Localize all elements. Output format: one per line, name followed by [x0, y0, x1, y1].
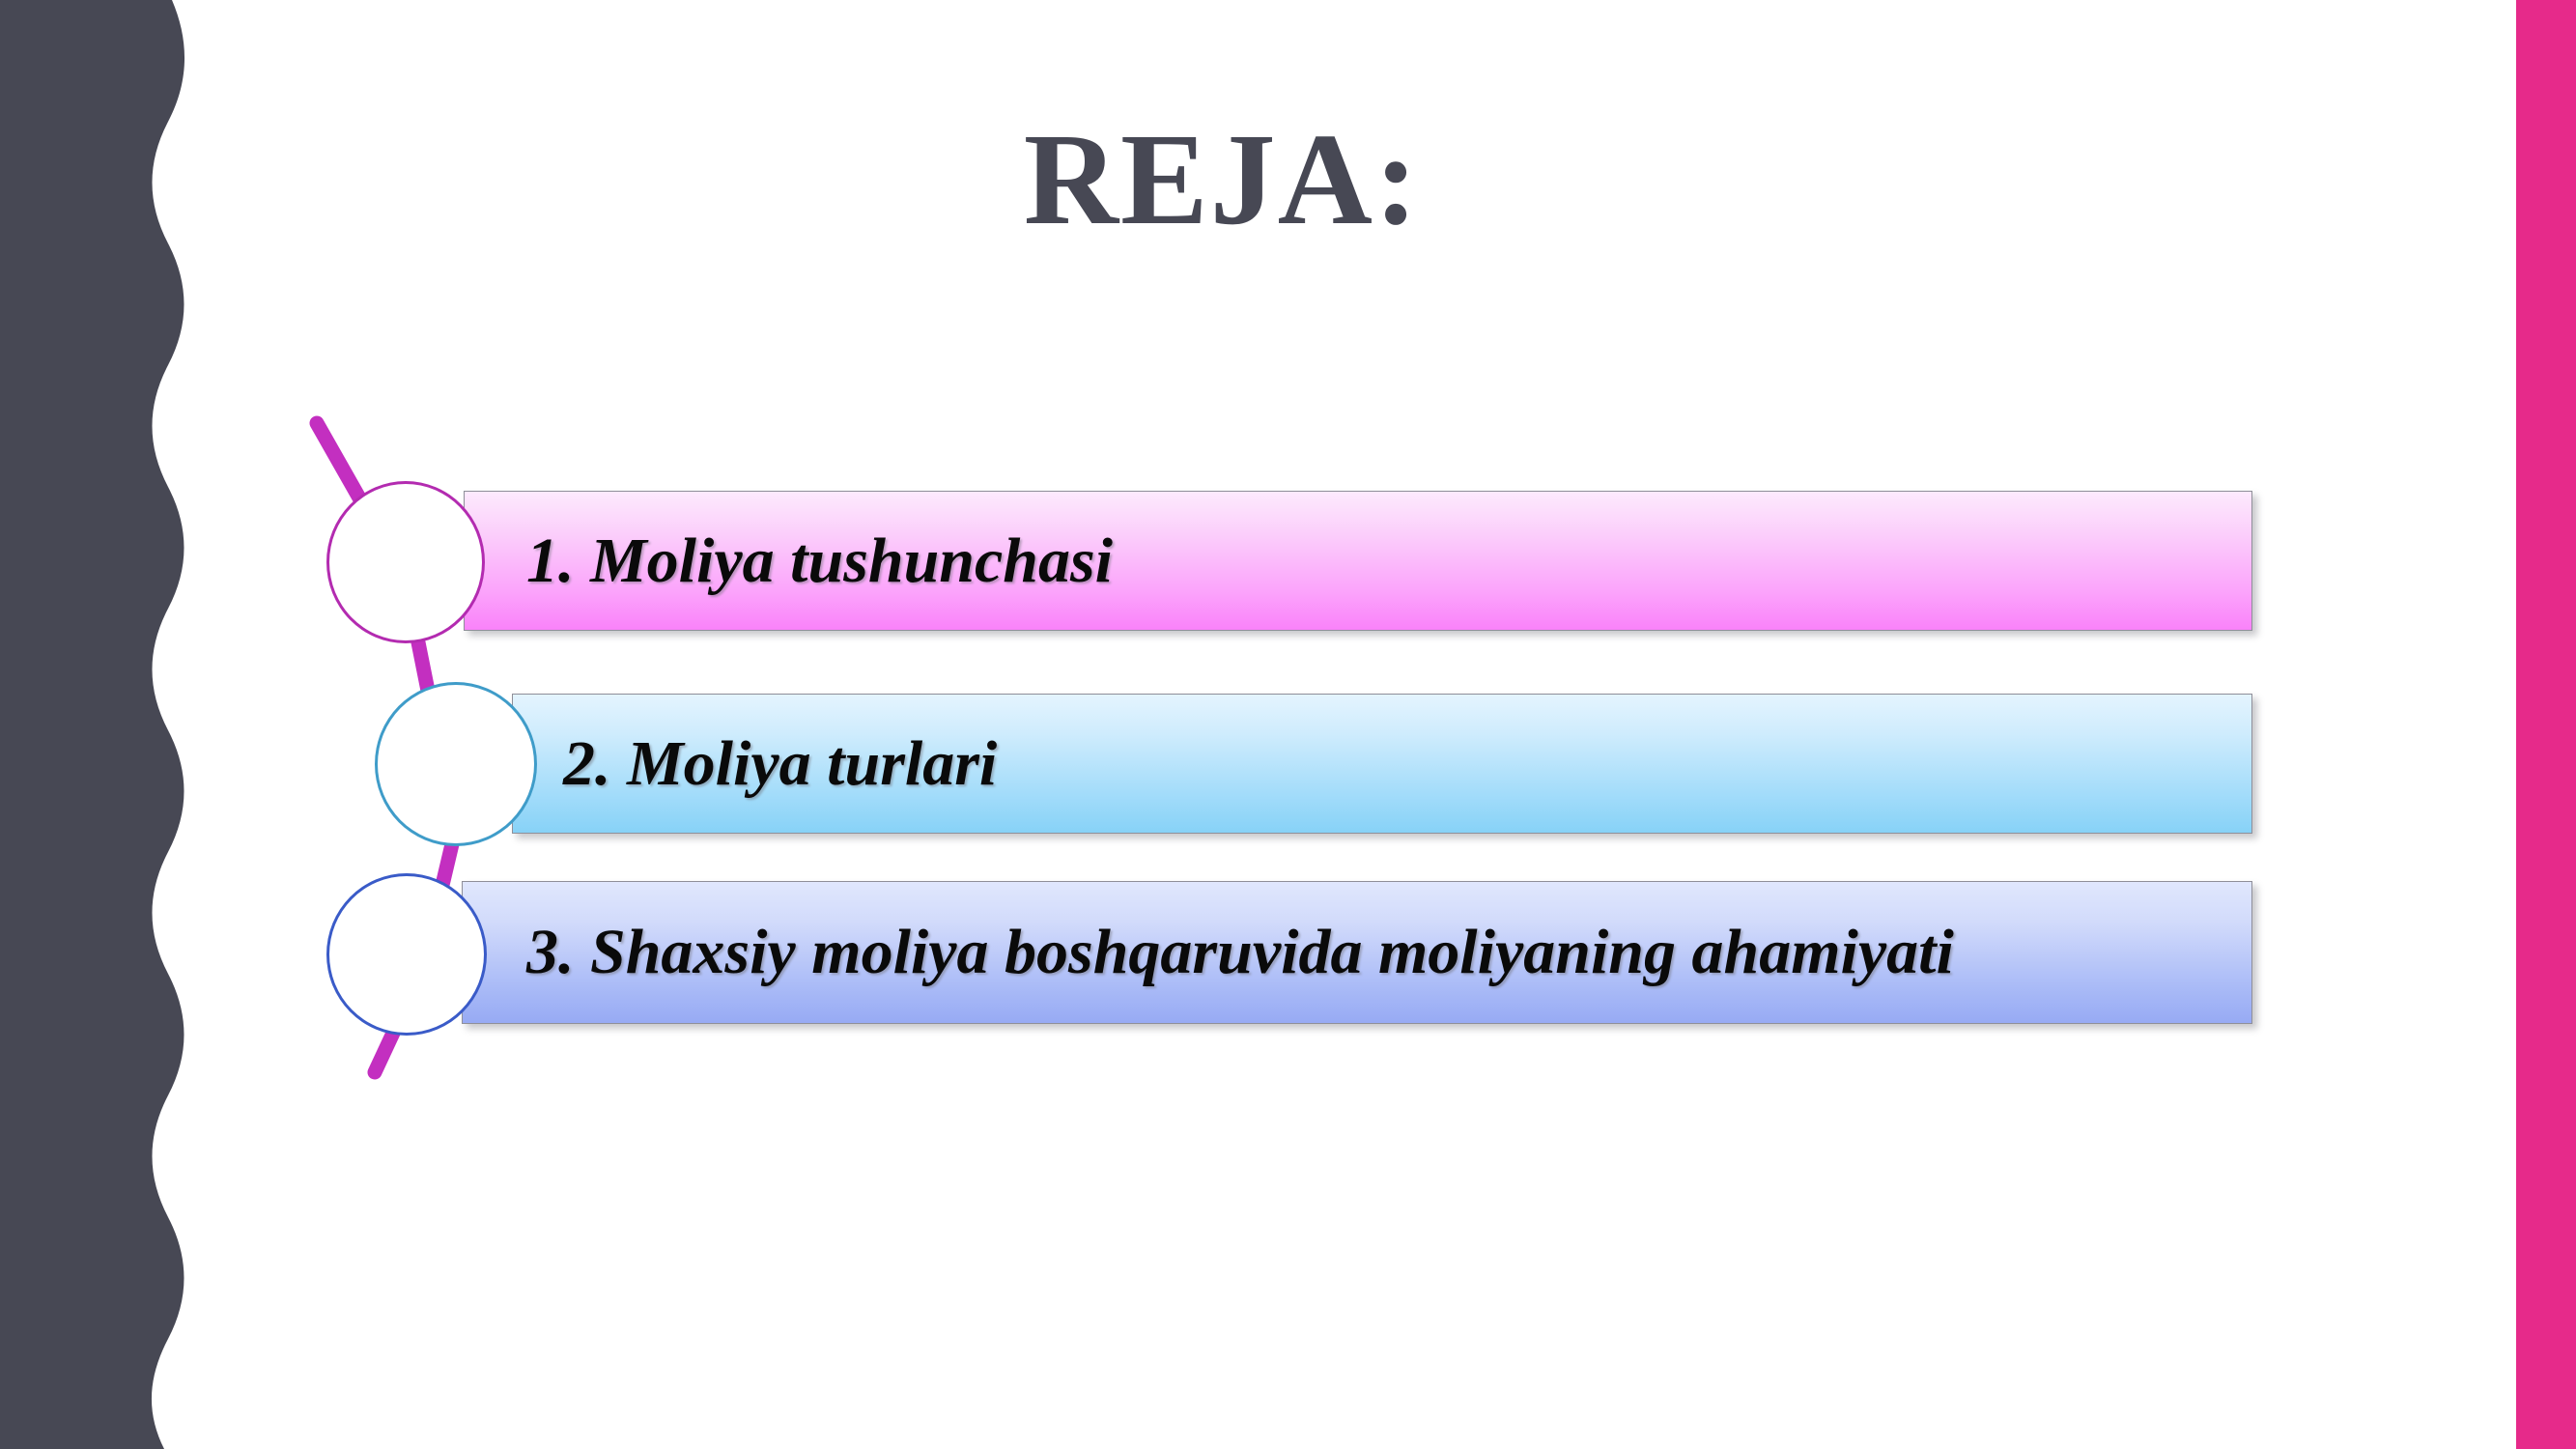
agenda-item-label-1: 1. Moliya tushunchasi	[465, 525, 1113, 598]
agenda-item-bar-2[interactable]: 2. Moliya turlari	[512, 694, 2252, 834]
agenda-marker-circle-2[interactable]	[375, 682, 537, 846]
agenda-item-bar-1[interactable]: 1. Moliya tushunchasi	[464, 491, 2252, 631]
page-title: REJA:	[0, 114, 2444, 245]
right-pink-stripe-decoration	[2516, 0, 2576, 1449]
presentation-slide: REJA: 1. Moliya tushunchasi 2. Moliya tu…	[0, 0, 2576, 1449]
agenda-marker-circle-3[interactable]	[326, 873, 487, 1036]
agenda-item-label-3: 3. Shaxsiy moliya boshqaruvida moliyanin…	[463, 916, 1954, 989]
agenda-marker-circle-1[interactable]	[326, 481, 485, 643]
agenda-item-label-2: 2. Moliya turlari	[513, 727, 997, 801]
agenda-item-bar-3[interactable]: 3. Shaxsiy moliya boshqaruvida moliyanin…	[462, 881, 2252, 1024]
